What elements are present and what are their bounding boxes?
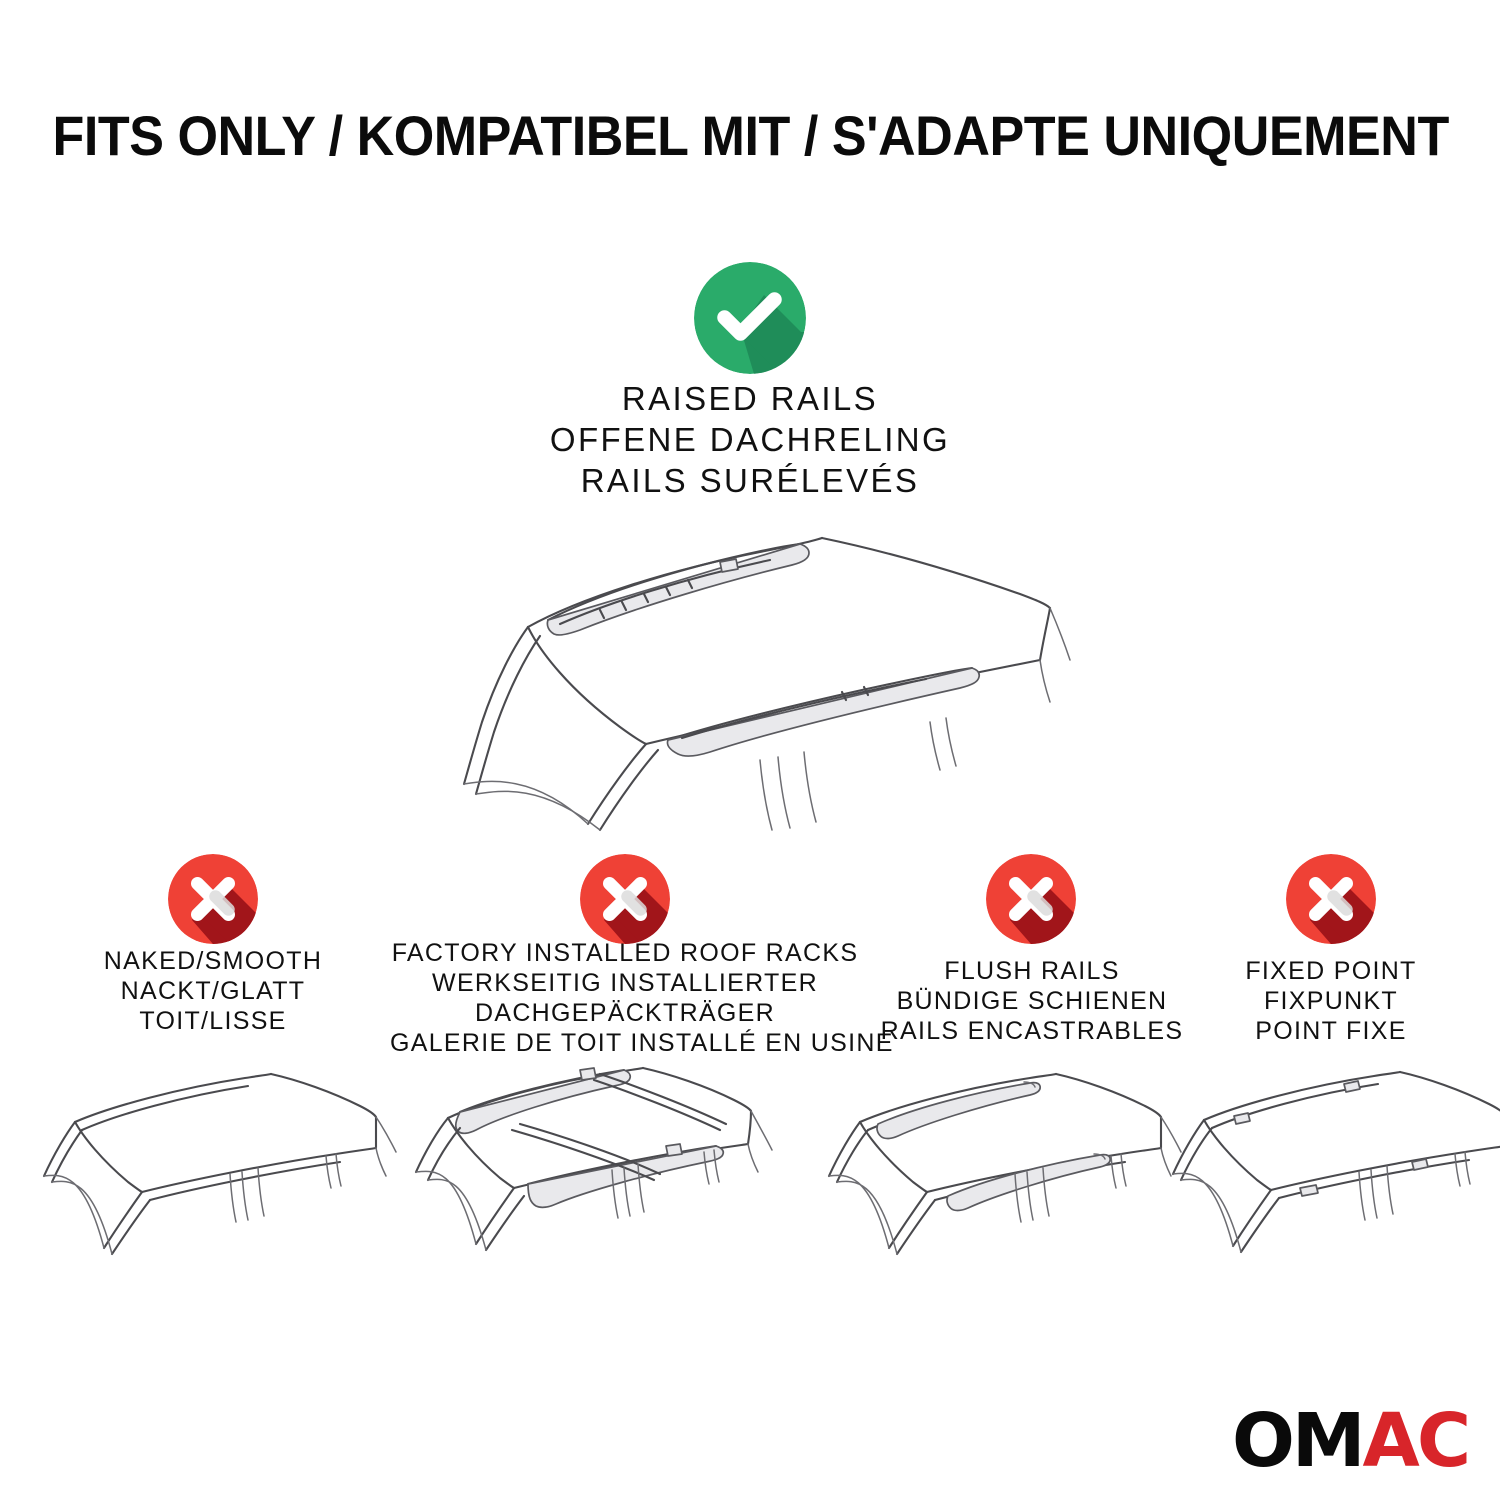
green-check-icon [694,262,806,374]
car-roof-factory-racks-illustration [404,1056,800,1284]
omac-logo: OMAC [1232,1404,1468,1478]
car-roof-flush-rails-illustration [824,1062,1198,1282]
incompatible-caption-naked-smooth: NAKED/SMOOTH NACKT/GLATT TOIT/LISSE [40,946,386,1036]
caption-line: POINT FIXE [1196,1016,1466,1046]
caption-line: DACHGEPÄCKTRÄGER [390,998,860,1028]
red-cross-icon [168,854,258,944]
caption-line: RAILS ENCASTRABLES [856,1016,1208,1046]
caption-line: GALERIE DE TOIT INSTALLÉ EN USINE [390,1028,860,1058]
compatible-line-3: RAILS SURÉLEVÉS [0,460,1500,501]
fitment-infographic: FITS ONLY / KOMPATIBEL MIT / S'ADAPTE UN… [0,0,1500,1500]
compatible-line-2: OFFENE DACHRELING [0,419,1500,460]
red-cross-icon [1286,854,1376,944]
logo-text-om: OM [1232,1398,1363,1484]
caption-line: FLUSH RAILS [856,956,1208,986]
caption-line: FIXED POINT [1196,956,1466,986]
car-roof-naked-smooth-illustration [40,1062,412,1282]
incompatible-caption-flush-rails: FLUSH RAILS BÜNDIGE SCHIENEN RAILS ENCAS… [856,956,1208,1046]
caption-line: NAKED/SMOOTH [40,946,386,976]
incompatible-caption-factory-racks: FACTORY INSTALLED ROOF RACKS WERKSEITIG … [390,938,860,1058]
caption-line: FIXPUNKT [1196,986,1466,1016]
red-cross-icon [580,854,670,944]
compatible-caption: RAISED RAILS OFFENE DACHRELING RAILS SUR… [0,378,1500,501]
caption-line: TOIT/LISSE [40,1006,386,1036]
red-cross-icon [986,854,1076,944]
car-roof-fixed-point-illustration [1172,1062,1500,1282]
page-title: FITS ONLY / KOMPATIBEL MIT / S'ADAPTE UN… [53,104,1448,168]
compatible-line-1: RAISED RAILS [0,378,1500,419]
caption-line: BÜNDIGE SCHIENEN [856,986,1208,1016]
caption-line: FACTORY INSTALLED ROOF RACKS [390,938,860,968]
logo-text-ac: AC [1363,1398,1469,1484]
caption-line: WERKSEITIG INSTALLIERTER [390,968,860,998]
caption-line: NACKT/GLATT [40,976,386,1006]
incompatible-caption-fixed-point: FIXED POINT FIXPUNKT POINT FIXE [1196,956,1466,1046]
car-roof-raised-rails-illustration [430,512,1070,842]
